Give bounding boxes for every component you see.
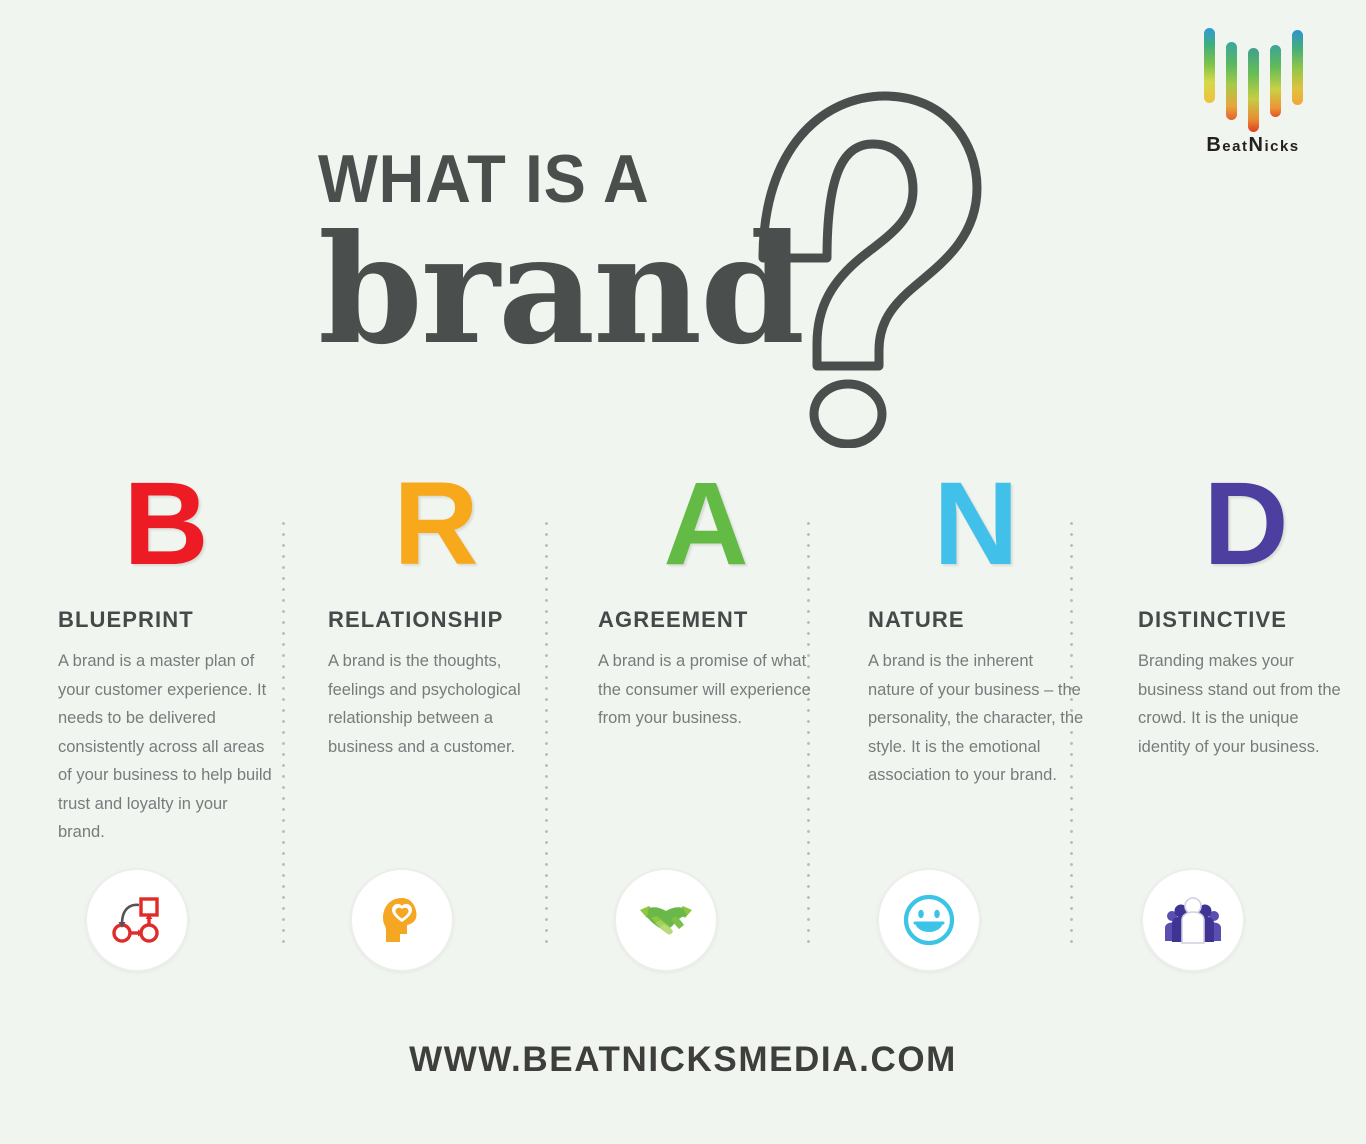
icons-row (0, 868, 1366, 978)
logo-text-eat: eat (1222, 138, 1248, 155)
page-title: WHAT IS A brand (318, 145, 1018, 445)
logo-bar-1 (1204, 28, 1215, 103)
infographic-page: BeatNicks WHAT IS A brand B BLUEPRINT A … (0, 0, 1366, 1144)
logo-bar-5 (1292, 30, 1303, 105)
handshake-icon (637, 898, 695, 942)
letter-b: B (58, 465, 274, 585)
logo-bar-3 (1248, 48, 1259, 132)
title-line-two: brand (318, 219, 1018, 362)
heading-nature: NATURE (868, 607, 1084, 633)
body-blueprint: A brand is a master plan of your custome… (58, 647, 274, 847)
icon-badge-nature (877, 868, 981, 972)
letter-a: A (598, 465, 814, 585)
letter-d: D (1138, 465, 1354, 585)
body-nature: A brand is the inherent nature of your b… (868, 647, 1084, 790)
heading-blueprint: BLUEPRINT (58, 607, 274, 633)
beatnicks-logo: BeatNicks (1178, 28, 1328, 157)
heading-relationship: RELATIONSHIP (328, 607, 544, 633)
logo-letter-b: B (1206, 134, 1222, 156)
title-line-one: WHAT IS A (318, 145, 969, 213)
logo-bar-2 (1226, 42, 1237, 120)
body-agreement: A brand is a promise of what the consume… (598, 647, 814, 733)
logo-letter-n: N (1248, 134, 1264, 156)
smiley-face-icon (902, 893, 956, 947)
heading-distinctive: DISTINCTIVE (1138, 607, 1354, 633)
letter-n: N (868, 465, 1084, 585)
footer-url[interactable]: WWW.BEATNICKSMEDIA.COM (0, 1040, 1366, 1080)
icon-badge-agreement (614, 868, 718, 972)
logo-text-icks: icks (1264, 138, 1299, 155)
body-distinctive: Branding makes your business stand out f… (1138, 647, 1354, 761)
heading-agreement: AGREEMENT (598, 607, 814, 633)
flowchart-icon (109, 892, 165, 948)
logo-wordmark: BeatNicks (1178, 134, 1328, 157)
people-group-icon (1164, 896, 1222, 944)
logo-bar-4 (1270, 45, 1281, 117)
head-with-heart-icon (374, 892, 430, 948)
icon-badge-distinctive (1141, 868, 1245, 972)
icon-badge-blueprint (85, 868, 189, 972)
body-relationship: A brand is the thoughts, feelings and ps… (328, 647, 544, 761)
icon-badge-relationship (350, 868, 454, 972)
logo-bars-icon (1178, 28, 1328, 118)
letter-r: R (328, 465, 544, 585)
